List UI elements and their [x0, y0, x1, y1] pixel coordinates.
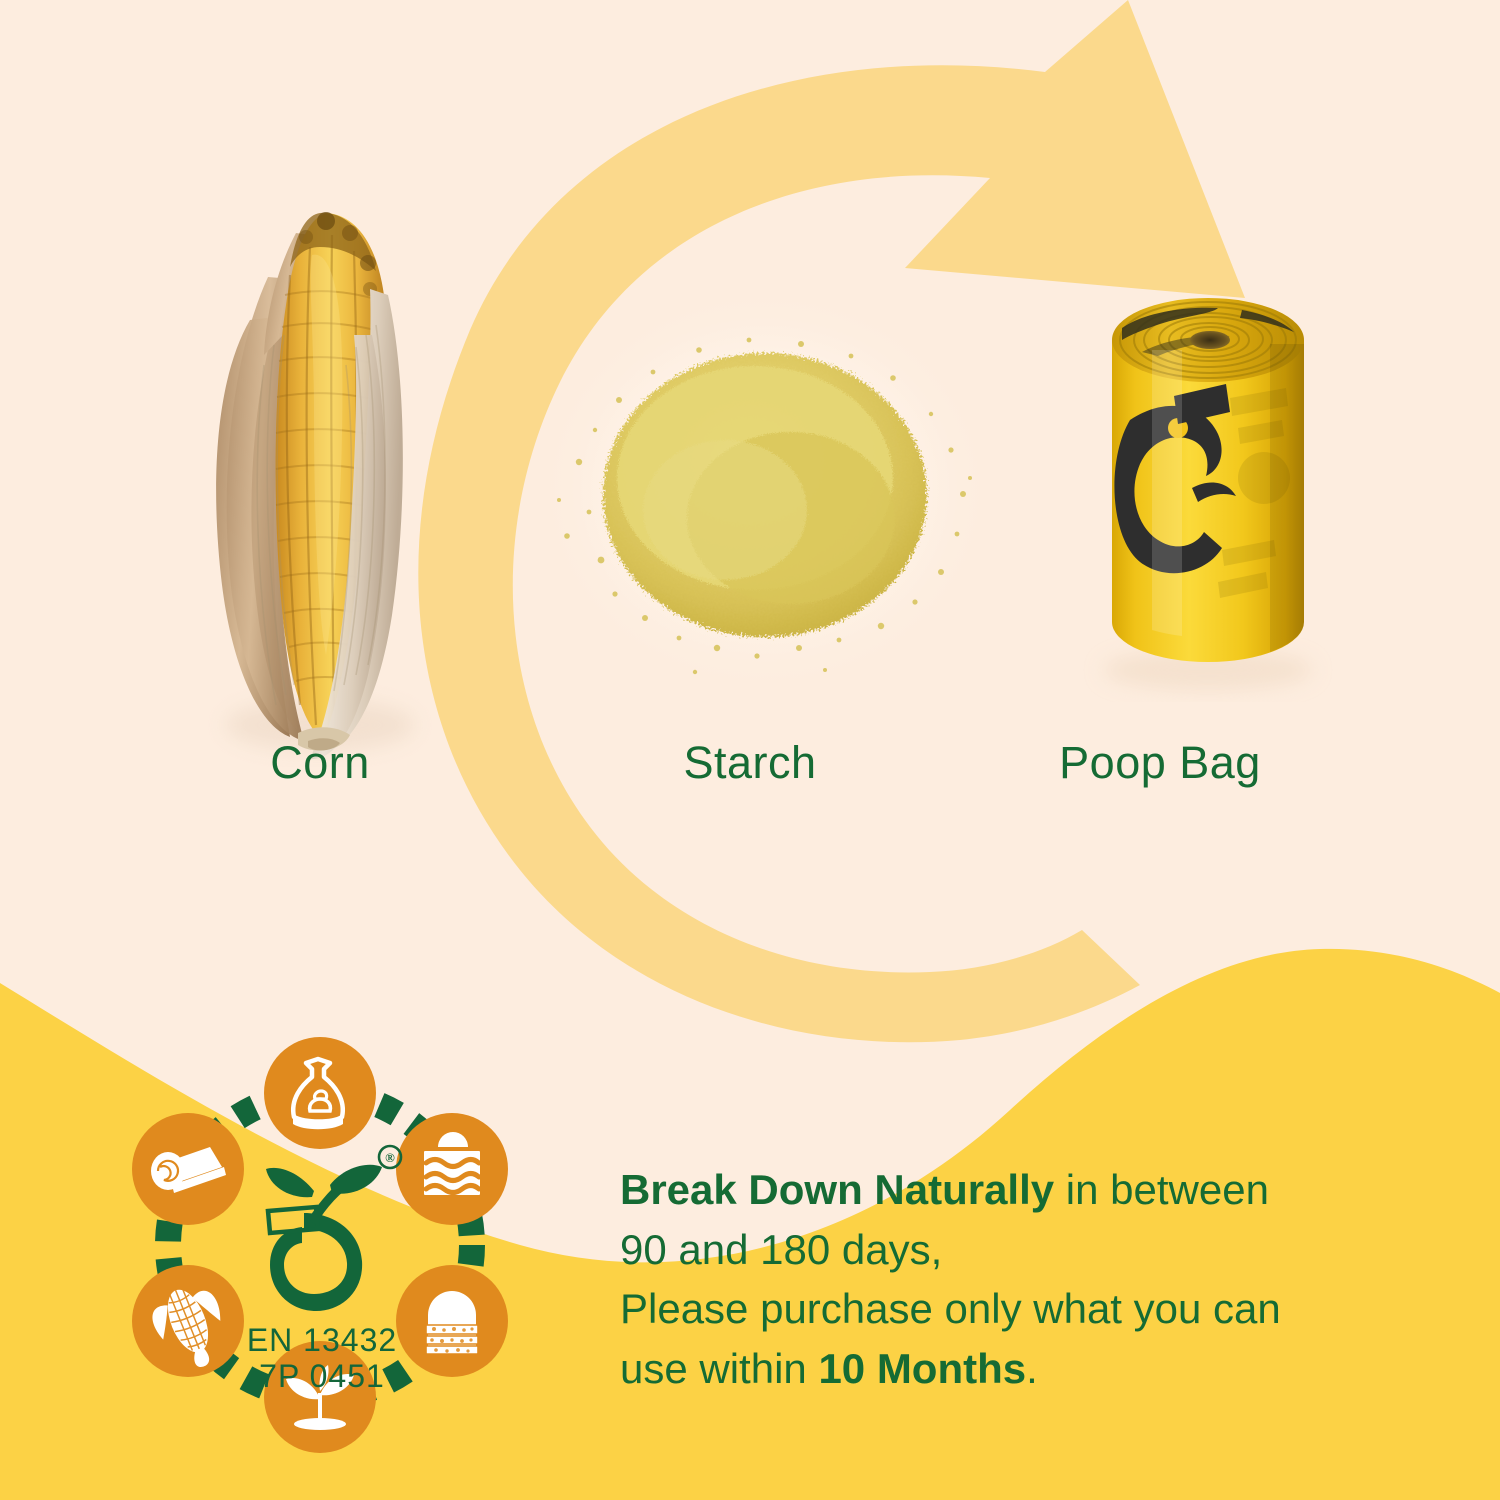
badge-graphic: ® EN 13432 7P 0451 [110, 1035, 530, 1455]
infographic-canvas: Corn Starch Poop Bag [0, 0, 1500, 1500]
product-label-corn: Corn [110, 740, 530, 785]
registered-glyph: ® [385, 1150, 395, 1165]
breakdown-copy-block: Break Down Naturally in between 90 and 1… [620, 1160, 1420, 1399]
copy-line-4: use within 10 Months. [620, 1339, 1420, 1399]
ring-icon-poop-bag [264, 1037, 376, 1149]
ring-icon-bag-roll [132, 1113, 244, 1225]
copy-line-1-strong: Break Down Naturally [620, 1166, 1054, 1213]
starch-art-slot [540, 120, 960, 740]
copy-line-1: Break Down Naturally in between [620, 1160, 1420, 1220]
copy-line-2: 90 and 180 days, [620, 1220, 1420, 1280]
corn-art-slot [110, 120, 530, 740]
copy-line-4-post: . [1026, 1345, 1038, 1392]
product-starch: Starch [540, 120, 960, 785]
copy-line-1-rest: in between [1054, 1166, 1269, 1213]
ring-icon-compost-soil [396, 1265, 508, 1377]
ok-compost-seedling-logo: ® [266, 1146, 401, 1311]
certification-license: 7P 0451 [259, 1358, 385, 1394]
copy-line-4-pre: use within [620, 1345, 818, 1392]
product-row: Corn Starch Poop Bag [0, 120, 1500, 860]
product-label-starch: Starch [540, 740, 960, 785]
product-poop-bag: Poop Bag [950, 120, 1370, 785]
copy-line-4-strong: 10 Months [818, 1345, 1026, 1392]
poop-bag-art-slot [950, 120, 1370, 740]
bottom-band: ® EN 13432 7P 0451 Break Down Naturally … [0, 1010, 1500, 1500]
ring-icon-corn-cob [132, 1265, 244, 1378]
product-corn: Corn [110, 120, 530, 785]
product-label-poop-bag: Poop Bag [950, 740, 1370, 785]
ring-icon-water-waves [396, 1113, 508, 1225]
compostable-certification-badge: ® EN 13432 7P 0451 [110, 1035, 530, 1455]
certification-standard: EN 13432 [247, 1322, 397, 1358]
copy-line-3: Please purchase only what you can [620, 1279, 1420, 1339]
